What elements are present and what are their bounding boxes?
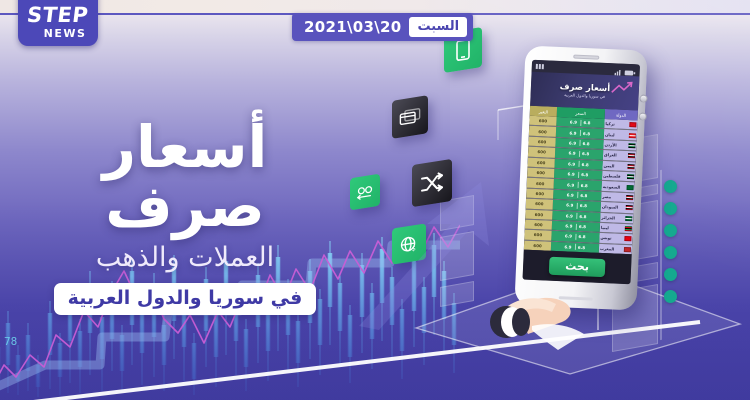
timeline-dot: [664, 290, 677, 303]
rates-table-body[interactable]: تركيا6.86.9600لبنان6.86.9600الأردن6.86.9…: [524, 116, 638, 255]
country-flag-icon: [628, 143, 635, 148]
row-country-name: السودان: [602, 204, 618, 210]
date-value: 2021\03\20: [304, 18, 401, 36]
price-separator: [576, 213, 577, 219]
app-banner: أسعار صرف في سوريا والدول العربية: [530, 72, 639, 111]
row-country-name: تونس: [600, 235, 611, 240]
row-change-value: 600: [529, 126, 556, 137]
step-news-logo[interactable]: STEP NEWS: [18, 0, 98, 46]
phone-speaker: [573, 55, 599, 60]
row-country-cell: السودان: [600, 202, 634, 213]
scope-badge: في سوريا والدول العربية: [54, 283, 317, 315]
row-change-value: 600: [527, 168, 554, 179]
row-buy-value: 6.8: [578, 234, 585, 239]
row-sell-value: 6.9: [569, 140, 576, 145]
country-flag-icon: [626, 185, 633, 190]
isometric-scene: $: [360, 30, 750, 370]
row-sell-value: 6.9: [568, 161, 575, 166]
price-separator: [574, 244, 575, 250]
credit-card-icon: [399, 106, 421, 127]
row-country-name: لبنان: [605, 132, 615, 137]
credit-card-icon-tile[interactable]: [392, 95, 428, 139]
price-separator: [578, 151, 579, 157]
row-buy-value: 6.8: [582, 141, 589, 146]
row-country-cell: الأردن: [603, 140, 637, 151]
row-country-name: مصر: [602, 194, 611, 199]
row-change-value: 600: [528, 147, 555, 158]
row-sell-value: 6.9: [566, 213, 573, 218]
row-change-value: 600: [529, 116, 556, 127]
row-country-cell: ليبيا: [599, 223, 633, 234]
price-separator: [578, 171, 579, 177]
price-separator: [578, 161, 579, 167]
price-separator: [577, 192, 578, 198]
country-flag-icon: [627, 153, 634, 158]
menu-icon[interactable]: [536, 63, 544, 68]
row-buy-value: 6.8: [580, 203, 587, 208]
row-sell-value: 6.9: [565, 234, 572, 239]
row-buy-value: 6.8: [583, 120, 590, 125]
app-banner-subtitle: في سوريا والدول العربية: [564, 93, 605, 99]
logo-news-text: NEWS: [44, 28, 87, 39]
row-buy-value: 6.8: [579, 214, 586, 219]
day-name-chip: السبت: [409, 17, 467, 37]
country-flag-icon: [624, 236, 631, 241]
phone-footer: بحث: [523, 250, 632, 285]
row-country-cell: مصر: [601, 192, 635, 203]
logo-step-text: STEP: [26, 5, 90, 26]
timeline-dot: [664, 268, 677, 281]
price-separator: [575, 223, 576, 229]
page-subtitle: العملات والذهب: [15, 242, 355, 273]
banner-arrow-icon: [611, 80, 634, 95]
poster-canvas: 78 STEP NEWS 2021\03\20 السبت أسعار صرف …: [0, 0, 750, 400]
row-sell-value: 6.9: [566, 203, 573, 208]
row-country-cell: فلسطين: [601, 171, 635, 182]
row-country-cell: لبنان: [603, 129, 637, 140]
row-buy-value: 6.8: [578, 245, 585, 250]
row-country-cell: العراق: [602, 150, 636, 161]
country-flag-icon: [625, 205, 632, 210]
row-country-name: المغرب: [600, 246, 615, 252]
mobile-icon: [453, 37, 473, 62]
headline-block: أسعار صرف العملات والذهب في سوريا والدول…: [15, 118, 355, 315]
row-sell-value: 6.9: [564, 244, 571, 249]
row-sell-value: 6.9: [565, 223, 572, 228]
row-buy-value: 6.8: [580, 193, 587, 198]
row-change-value: 600: [527, 157, 554, 168]
price-separator: [575, 234, 576, 240]
row-country-name: العراق: [604, 152, 617, 158]
row-buy-value: 6.8: [581, 172, 588, 177]
row-change-value: 600: [528, 136, 555, 147]
search-button[interactable]: بحث: [549, 257, 605, 277]
row-country-cell: تونس: [599, 233, 633, 244]
row-buy-value: 6.8: [582, 151, 589, 156]
phone-screen: أسعار صرف في سوريا والدول العربية الدولة…: [523, 60, 640, 285]
row-country-name: الجزائر: [601, 215, 615, 221]
timeline-dot: [664, 202, 677, 215]
row-country-name: اليمن: [604, 163, 615, 168]
country-flag-icon: [627, 164, 634, 169]
price-separator: [579, 130, 580, 136]
row-sell-value: 6.9: [568, 151, 575, 156]
price-separator: [580, 120, 581, 126]
timeline-dot: [664, 246, 677, 259]
top-light-strip: [0, 0, 750, 13]
price-separator: [579, 140, 580, 146]
row-buy-value: 6.8: [581, 183, 588, 188]
chart-y-axis-label: 78: [4, 335, 17, 348]
row-country-name: السعودية: [603, 183, 621, 189]
row-sell-value: 6.9: [567, 172, 574, 177]
country-flag-icon: [625, 216, 632, 221]
page-title: أسعار صرف: [15, 118, 355, 236]
row-sell-value: 6.9: [567, 182, 574, 187]
row-country-cell: الجزائر: [600, 212, 634, 223]
row-buy-value: 6.8: [582, 162, 589, 167]
timeline-dot: [664, 224, 677, 237]
row-country-cell: تركيا: [604, 119, 638, 130]
timeline-dot: [664, 180, 677, 193]
country-flag-icon: [626, 174, 633, 179]
row-buy-value: 6.8: [579, 224, 586, 229]
country-flag-icon: [624, 226, 631, 231]
row-country-name: الأردن: [604, 142, 616, 148]
pointing-hand: [488, 282, 608, 352]
row-country-cell: السعودية: [601, 181, 635, 192]
row-country-name: ليبيا: [601, 225, 609, 230]
price-separator: [577, 182, 578, 188]
price-separator: [576, 203, 577, 209]
row-buy-value: 6.8: [583, 131, 590, 136]
row-sell-value: 6.9: [567, 192, 574, 197]
row-sell-value: 6.9: [570, 120, 577, 125]
country-flag-icon: [623, 247, 630, 252]
row-country-cell: اليمن: [602, 160, 636, 171]
country-flag-icon: [629, 122, 636, 127]
country-flag-icon: [626, 195, 633, 200]
row-sell-value: 6.9: [569, 130, 576, 135]
date-badge: 2021\03\20 السبت: [292, 13, 473, 41]
row-country-name: فلسطين: [603, 173, 621, 179]
row-country-name: تركيا: [605, 121, 615, 126]
country-flag-icon: [628, 133, 635, 138]
